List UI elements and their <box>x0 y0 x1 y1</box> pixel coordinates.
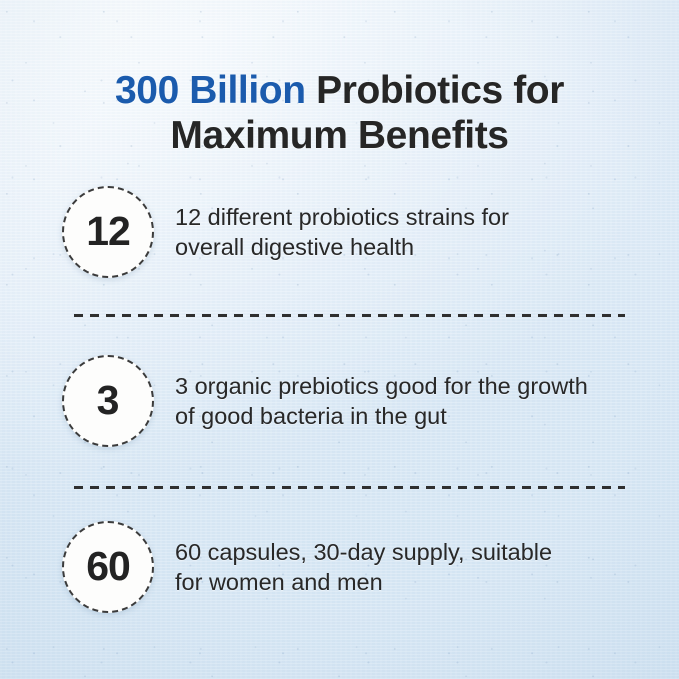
feature-row: 60 60 capsules, 30-day supply, suitable … <box>62 521 642 613</box>
page-title-line-2: Maximum Benefits <box>0 113 679 158</box>
page-title-line-1: 300 Billion Probiotics for <box>0 68 679 113</box>
feature-description: 3 organic prebiotics good for the growth… <box>175 371 588 431</box>
feature-description-line-1: 60 capsules, 30-day supply, suitable <box>175 537 552 567</box>
page-title-rest: Probiotics for <box>306 69 564 112</box>
page-title: 300 Billion Probiotics for Maximum Benef… <box>0 68 679 158</box>
dashed-divider <box>74 486 625 489</box>
feature-badge-circle: 12 <box>62 186 154 278</box>
feature-description: 60 capsules, 30-day supply, suitable for… <box>175 537 552 597</box>
feature-badge-circle: 60 <box>62 521 154 613</box>
page-title-accent: 300 Billion <box>115 69 306 112</box>
feature-description-line-2: overall digestive health <box>175 232 509 262</box>
probiotics-feature-poster: 300 Billion Probiotics for Maximum Benef… <box>0 0 679 679</box>
feature-description-line-1: 12 different probiotics strains for <box>175 202 509 232</box>
dashed-divider <box>74 314 625 317</box>
feature-badge-number: 12 <box>86 211 130 252</box>
feature-badge-circle: 3 <box>62 355 154 447</box>
feature-badge-number: 60 <box>86 546 130 587</box>
feature-description: 12 different probiotics strains for over… <box>175 202 509 262</box>
content-layer: 300 Billion Probiotics for Maximum Benef… <box>0 0 679 679</box>
feature-row: 3 3 organic prebiotics good for the grow… <box>62 355 642 447</box>
feature-badge-number: 3 <box>97 380 120 421</box>
feature-row: 12 12 different probiotics strains for o… <box>62 186 642 278</box>
feature-description-line-2: for women and men <box>175 567 552 597</box>
feature-description-line-1: 3 organic prebiotics good for the growth <box>175 371 588 401</box>
feature-description-line-2: of good bacteria in the gut <box>175 401 588 431</box>
